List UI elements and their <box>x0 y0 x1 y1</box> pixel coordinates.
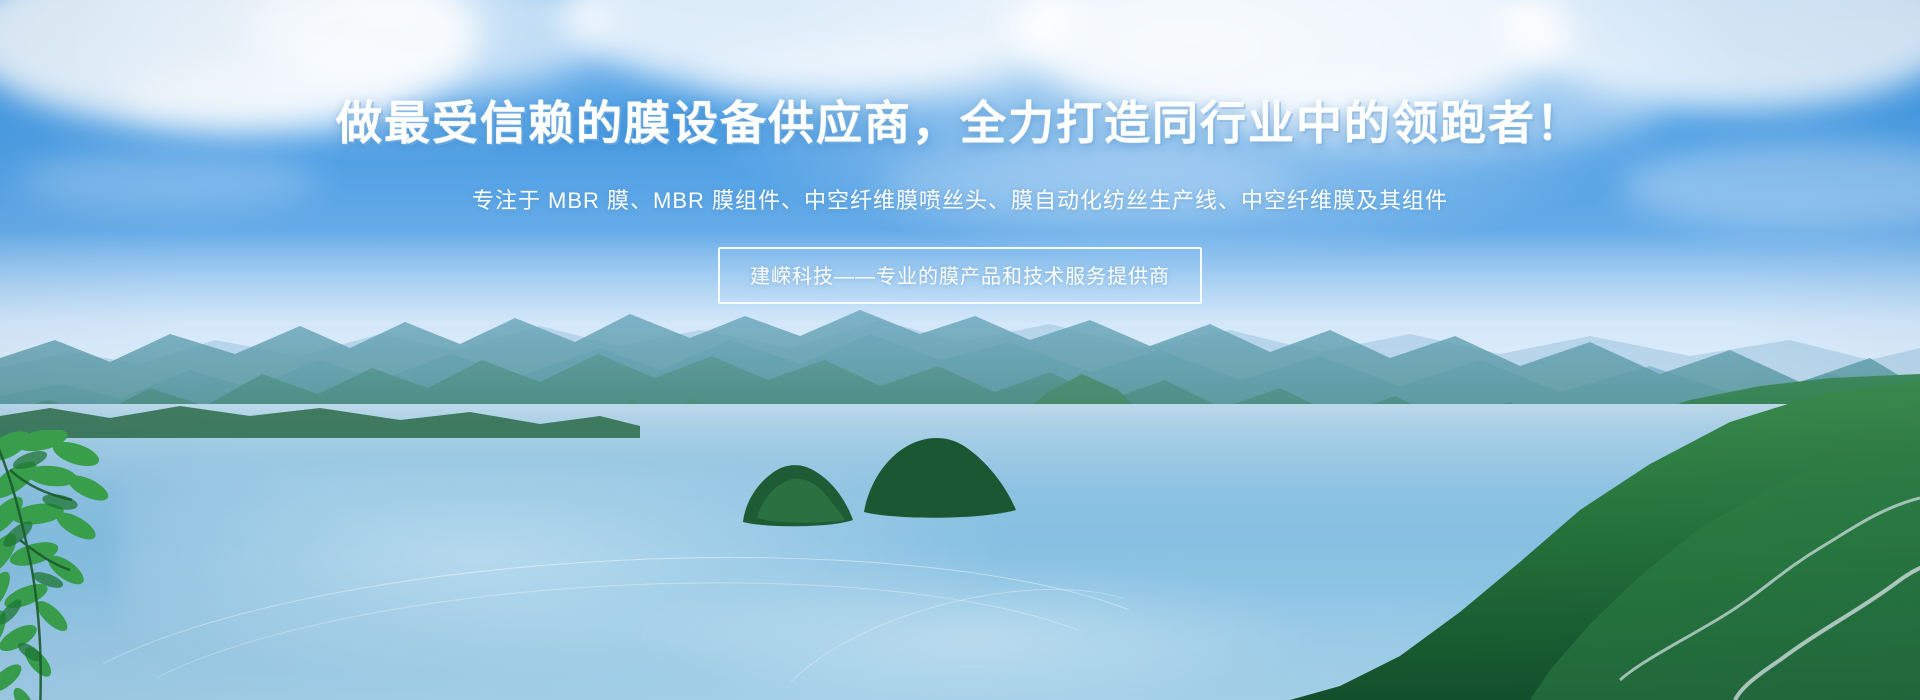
hero-banner: 做最受信赖的膜设备供应商，全力打造同行业中的领跑者！ 专注于 MBR 膜、MBR… <box>0 0 1920 700</box>
cloud-icon <box>700 40 1030 106</box>
lake-island <box>860 430 1020 520</box>
right-shore-forest <box>1120 380 1920 700</box>
cloud-icon <box>880 150 1300 220</box>
cloud-icon <box>120 60 420 130</box>
foreground-tree-branch <box>0 430 210 700</box>
cloud-icon <box>1240 70 1660 150</box>
lake-island <box>735 460 865 530</box>
cloud-icon <box>20 150 320 210</box>
